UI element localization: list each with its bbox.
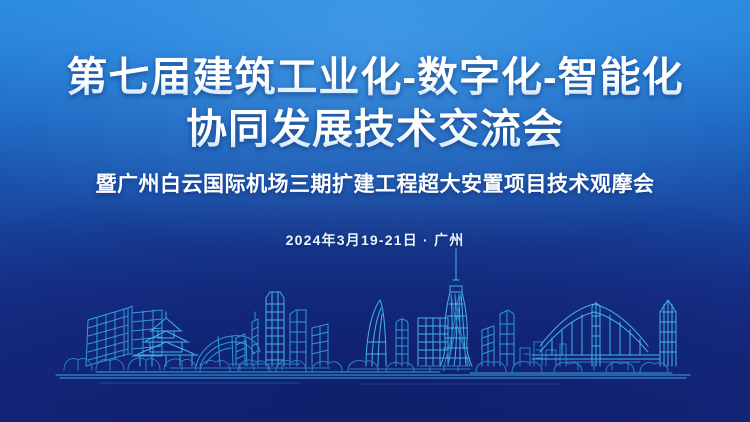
chinese-pavilion-icon [134,312,198,366]
stepped-tower-icon [290,310,328,366]
riverfront-baseline [56,368,690,378]
river-reflection-lines [100,383,560,384]
low-rise-group-icon [520,342,566,366]
title-line-2: 协同发展技术交流会 [0,104,750,154]
promenade-details-icon [230,362,640,371]
main-title: 第七届建筑工业化-数字化-智能化 协同发展技术交流会 [0,0,750,154]
midrise-cluster-left-icon [236,312,258,366]
poster-text-content: 第七届建筑工业化-数字化-智能化 协同发展技术交流会 暨广州白云国际机场三期扩建… [0,0,750,250]
opera-house-icon [196,336,260,366]
leaf-tower-icon [366,300,386,366]
tree-line-icon [64,358,668,372]
finance-tower-icon [266,292,284,366]
grid-office-tower-icon [418,318,448,366]
canton-tower-icon [440,249,472,366]
date-location: 2024年3月19-21日 · 广州 [0,230,750,250]
subtitle: 暨广州白云国际机场三期扩建工程超大安置项目技术观摩会 [0,170,750,200]
museum-building-icon [86,306,162,366]
cable-stayed-bridge-icon [532,302,660,366]
midrise-cluster-right-icon [482,310,514,366]
right-obelisk-tower-icon [660,300,676,366]
conference-poster: 第七届建筑工业化-数字化-智能化 协同发展技术交流会 暨广州白云国际机场三期扩建… [0,0,750,422]
guangzhou-skyline-illustration [0,242,750,392]
title-line-1: 第七届建筑工业化-数字化-智能化 [0,52,750,102]
striped-tower-icon [396,318,408,366]
